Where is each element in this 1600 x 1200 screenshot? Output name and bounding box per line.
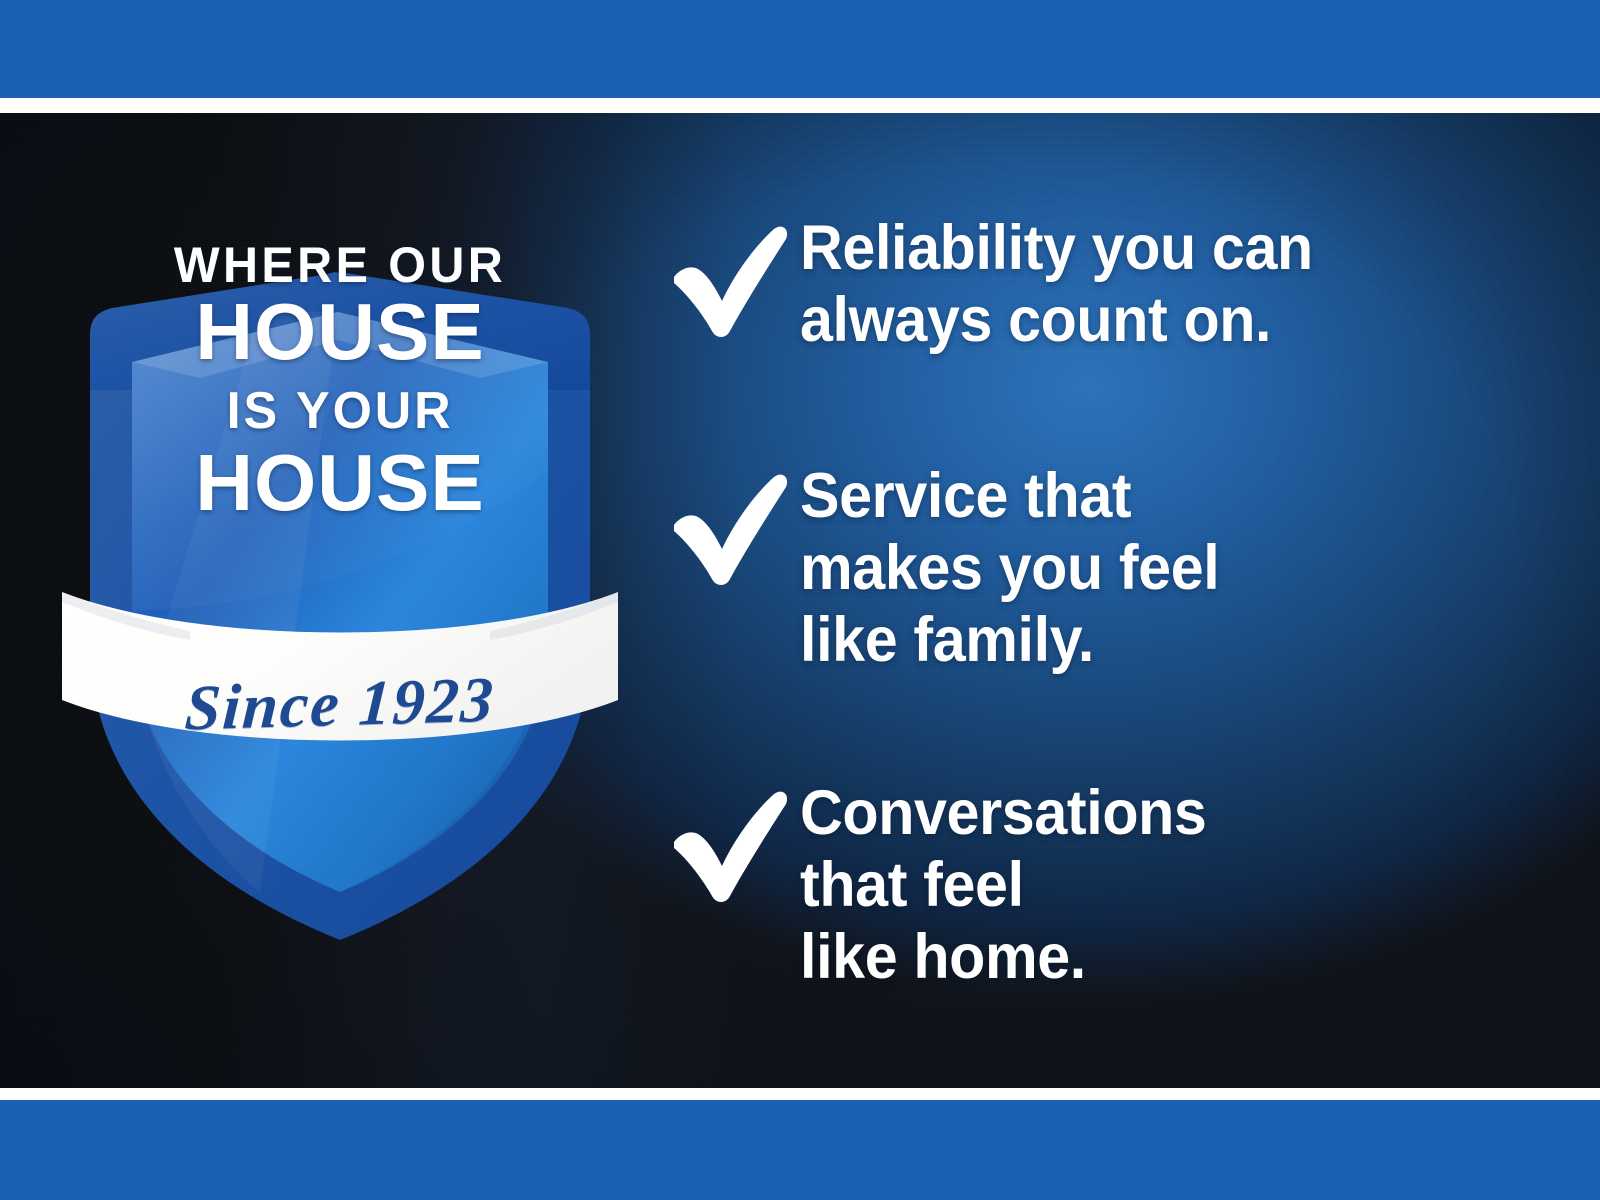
benefit-text-3: Conversations that feel like home. bbox=[800, 778, 1206, 993]
benefit-item-3: Conversations that feel like home. bbox=[660, 778, 1232, 993]
bottom-accent-bar bbox=[0, 1100, 1600, 1200]
benefits-list: Reliability you can always count on. Ser… bbox=[660, 113, 1540, 1088]
top-divider bbox=[0, 98, 1600, 113]
top-accent-bar bbox=[0, 0, 1600, 98]
shield-badge: WHERE OUR HOUSE IS YOUR HOUSE Since 1923 bbox=[60, 140, 620, 950]
promo-graphic: WHERE OUR HOUSE IS YOUR HOUSE Since 1923… bbox=[0, 0, 1600, 1200]
benefit-item-2: Service that makes you feel like family. bbox=[660, 461, 1246, 676]
benefit-text-2: Service that makes you feel like family. bbox=[800, 461, 1219, 676]
badge-ribbon: Since 1923 bbox=[60, 140, 620, 950]
benefit-text-1: Reliability you can always count on. bbox=[800, 213, 1313, 357]
check-icon bbox=[660, 778, 800, 904]
benefit-item-1: Reliability you can always count on. bbox=[660, 213, 1346, 357]
check-icon bbox=[660, 213, 800, 339]
check-icon bbox=[660, 461, 800, 587]
bottom-divider bbox=[0, 1088, 1600, 1100]
ribbon-since-text: Since 1923 bbox=[58, 659, 622, 749]
